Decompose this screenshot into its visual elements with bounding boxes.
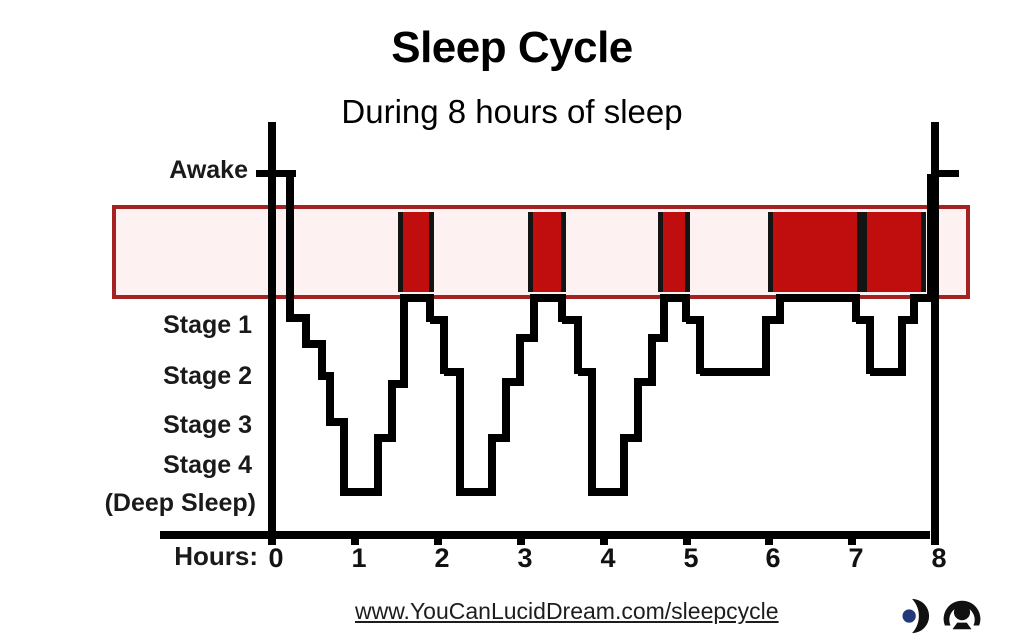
x-tick-label: 1 <box>339 545 379 572</box>
x-tick-label: 2 <box>422 545 462 572</box>
x-tick-label: 4 <box>588 545 628 572</box>
lucid-dream-eye-logo <box>893 597 931 635</box>
x-tick-label: 6 <box>753 545 793 572</box>
x-tick-label: 8 <box>919 545 959 572</box>
person-arcs-logo <box>941 597 983 635</box>
footer-logos <box>893 597 1003 637</box>
x-tick-label: 3 <box>505 545 545 572</box>
chart-canvas: Sleep Cycle During 8 hours of sleep Awak… <box>0 0 1024 640</box>
x-tick-label: 7 <box>836 545 876 572</box>
x-tick-label: 0 <box>256 545 296 572</box>
x-axis-title: Hours: <box>128 543 258 569</box>
x-tick-label: 5 <box>671 545 711 572</box>
website-url-link[interactable]: www.YouCanLucidDream.com/sleepcycle <box>355 600 779 623</box>
